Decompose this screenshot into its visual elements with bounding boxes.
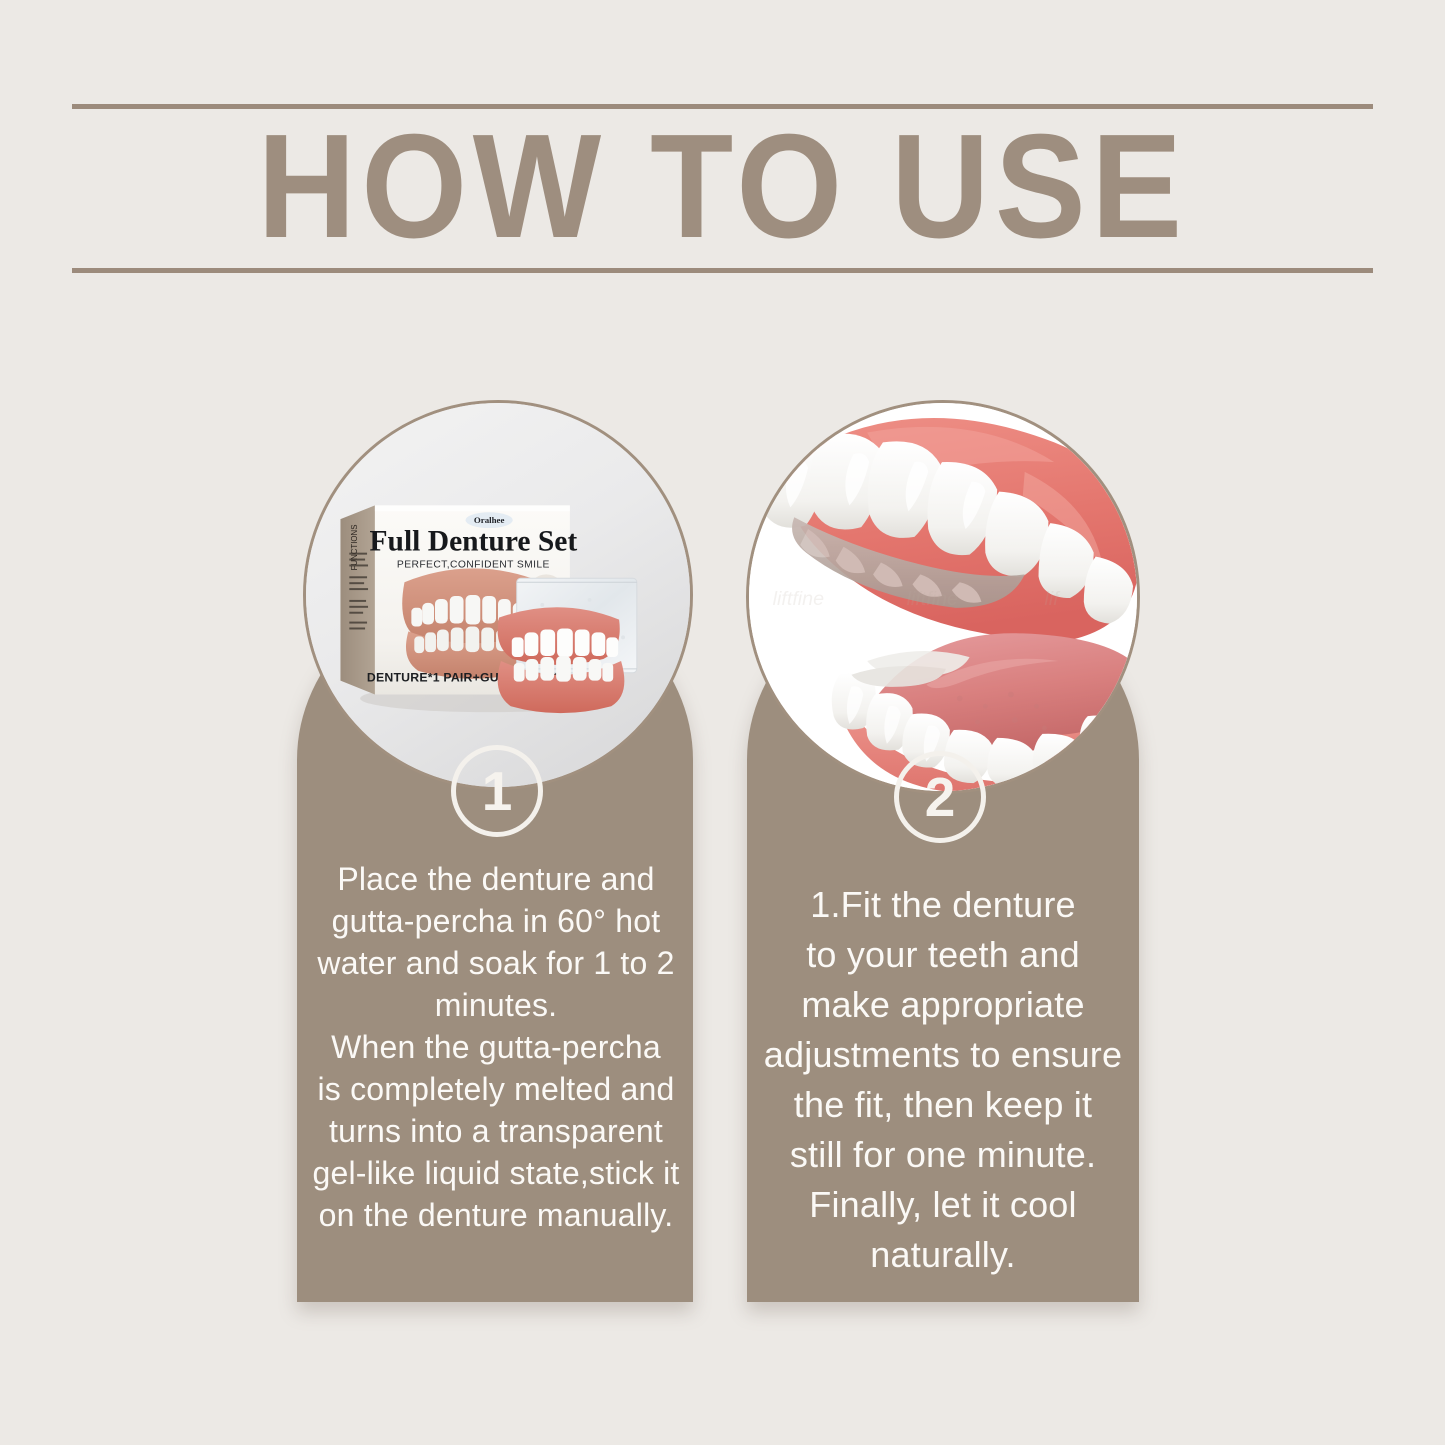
step-number-2: 2: [925, 770, 956, 825]
header-rule-bottom: [72, 268, 1373, 273]
step-1-description: Place the denture and gutta-percha in 60…: [305, 858, 687, 1236]
step-number-badge-2: 2: [894, 751, 986, 843]
denture-veneer-lower: [498, 656, 625, 713]
svg-text:liftfine: liftfine: [907, 588, 958, 610]
step-number-1: 1: [482, 764, 513, 819]
page-title: HOW TO USE: [124, 112, 1321, 262]
svg-text:liftfine: liftfine: [773, 588, 824, 610]
product-box-illustration: FUNCTIONS Oralhee: [306, 403, 690, 787]
svg-text:Oralhee: Oralhee: [474, 515, 505, 525]
infographic-page: HOW TO USE: [0, 0, 1445, 1445]
step-number-badge-1: 1: [451, 745, 543, 837]
step-1-image: FUNCTIONS Oralhee: [303, 400, 693, 790]
teeth-fitting-illustration: liftfine liftfine lif: [749, 403, 1137, 791]
denture-veneer-upper: [498, 607, 620, 665]
step-2-description: 1.Fit the denture to your teeth and make…: [745, 880, 1141, 1280]
box-side-label: FUNCTIONS: [350, 525, 359, 571]
step-2-image: liftfine liftfine lif: [746, 400, 1140, 794]
box-title: Full Denture Set: [370, 526, 578, 558]
